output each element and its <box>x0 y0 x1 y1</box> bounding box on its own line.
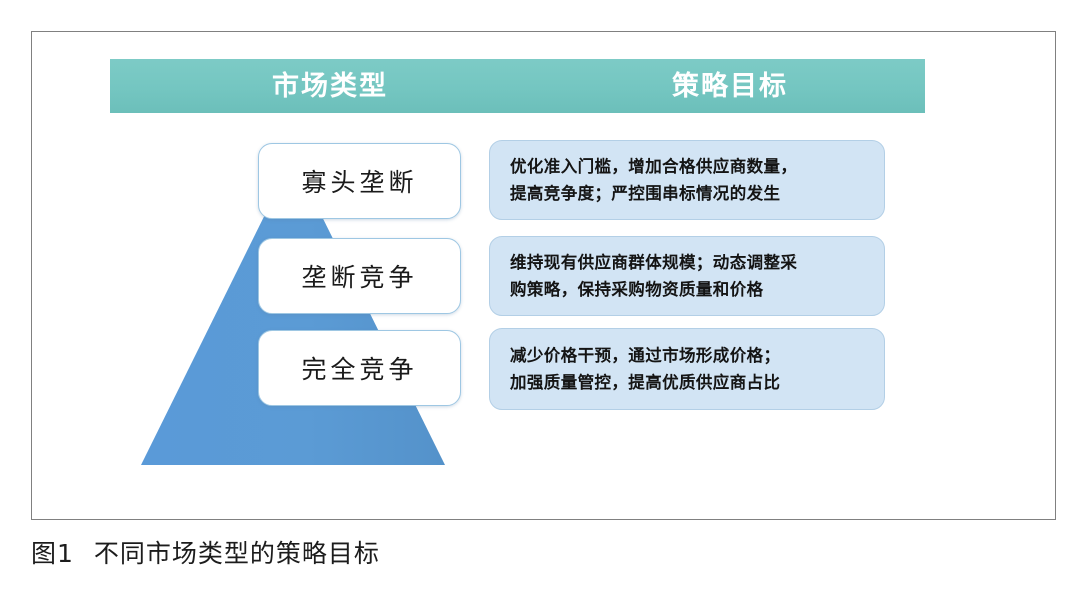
header-column-strategy-goal: 策略目标 <box>570 59 890 113</box>
strategy-line-1: 优化准入门槛，增加合格供应商数量， <box>510 153 797 180</box>
market-type-label: 完全竞争 <box>301 350 417 386</box>
header-column-market-type: 市场类型 <box>215 59 445 113</box>
strategy-box-perfect-competition[interactable]: 减少价格干预，通过市场形成价格； 加强质量管控，提高优质供应商占比 <box>489 328 885 410</box>
figure-caption-title: 不同市场类型的策略目标 <box>94 539 380 568</box>
strategy-box-monopolistic-competition[interactable]: 维持现有供应商群体规模；动态调整采 购策略，保持采购物资质量和价格 <box>489 236 885 316</box>
market-type-box-perfect-competition[interactable]: 完全竞争 <box>258 330 461 406</box>
market-type-box-monopolistic-competition[interactable]: 垄断竞争 <box>258 238 461 314</box>
figure-caption: 图1不同市场类型的策略目标 <box>31 534 380 570</box>
strategy-line-2: 提高竞争度；严控围串标情况的发生 <box>510 180 797 207</box>
market-type-box-oligopoly[interactable]: 寡头垄断 <box>258 143 461 219</box>
market-type-label: 垄断竞争 <box>301 258 417 294</box>
strategy-text: 优化准入门槛，增加合格供应商数量， 提高竞争度；严控围串标情况的发生 <box>510 153 797 207</box>
header-band: 市场类型 策略目标 <box>110 59 925 113</box>
strategy-text: 维持现有供应商群体规模；动态调整采 购策略，保持采购物资质量和价格 <box>510 249 797 303</box>
figure-caption-number: 图1 <box>31 539 74 568</box>
strategy-line-1: 维持现有供应商群体规模；动态调整采 <box>510 249 797 276</box>
strategy-line-1: 减少价格干预，通过市场形成价格； <box>510 342 780 369</box>
strategy-line-2: 购策略，保持采购物资质量和价格 <box>510 276 797 303</box>
strategy-box-oligopoly[interactable]: 优化准入门槛，增加合格供应商数量， 提高竞争度；严控围串标情况的发生 <box>489 140 885 220</box>
market-type-label: 寡头垄断 <box>301 163 417 199</box>
strategy-line-2: 加强质量管控，提高优质供应商占比 <box>510 369 780 396</box>
strategy-text: 减少价格干预，通过市场形成价格； 加强质量管控，提高优质供应商占比 <box>510 342 780 396</box>
